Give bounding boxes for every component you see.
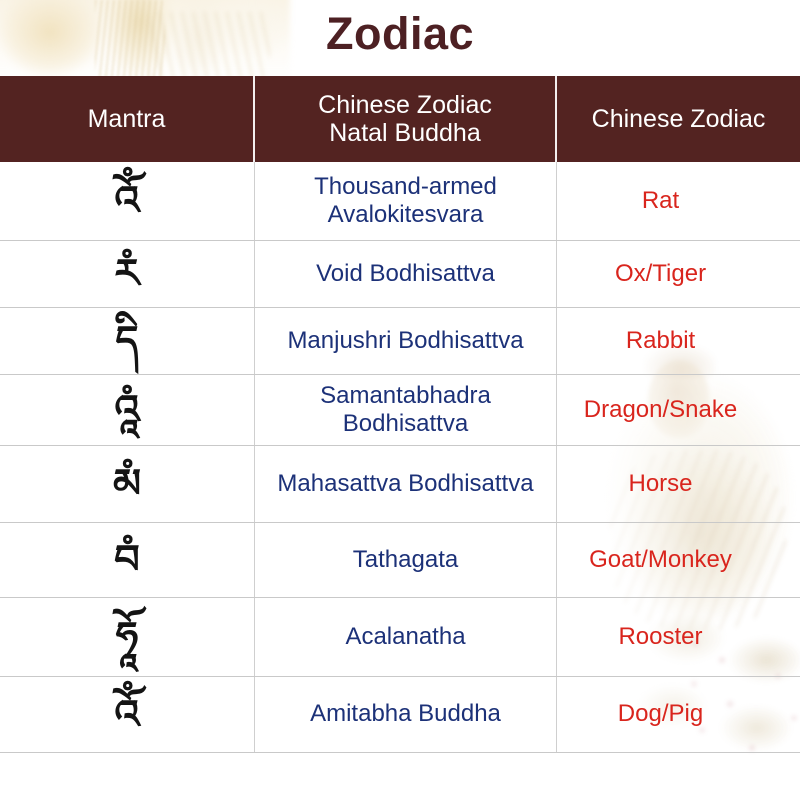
mantra-cell: འོཾ — [0, 162, 255, 240]
chinese-zodiac-cell: Rat — [557, 162, 800, 240]
chinese-zodiac-text: Dog/Pig — [618, 700, 739, 728]
chinese-zodiac-text: Horse — [628, 470, 728, 498]
table-row-5: མཾ Mahasattva Bodhisattva Horse — [0, 446, 800, 523]
table-row-6: བཾ Tathagata Goat/Monkey — [0, 523, 800, 598]
mantra-cell: འོཾ — [0, 677, 255, 752]
chinese-zodiac-text: Rooster — [618, 623, 738, 651]
table-body: འོཾ Thousand-armed Avalokitesvara Rat རཾ… — [0, 162, 800, 753]
column-header-natal-buddha-label: Chinese Zodiac Natal Buddha — [318, 91, 492, 147]
natal-buddha-text: Mahasattva Bodhisattva — [271, 470, 539, 498]
chinese-zodiac-text: Goat/Monkey — [589, 546, 768, 574]
natal-buddha-text: Void Bodhisattva — [310, 260, 501, 288]
table-row-2: རཾ Void Bodhisattva Ox/Tiger — [0, 241, 800, 308]
natal-buddha-line2: Avalokitesvara — [314, 201, 497, 229]
natal-buddha-line1: Acalanatha — [345, 623, 465, 651]
natal-buddha-line1: Mahasattva Bodhisattva — [277, 470, 533, 498]
tibetan-seed-syllable-hrih-icon: འོཾ — [114, 181, 139, 221]
natal-buddha-line1: Tathagata — [353, 546, 458, 574]
table-row-3: དི Manjushri Bodhisattva Rabbit — [0, 308, 800, 375]
chinese-zodiac-text: Ox/Tiger — [615, 260, 742, 288]
chinese-zodiac-cell: Rooster — [557, 598, 800, 676]
natal-buddha-cell: Manjushri Bodhisattva — [255, 308, 557, 374]
chinese-zodiac-text: Rat — [642, 187, 715, 215]
natal-buddha-cell: Void Bodhisattva — [255, 241, 557, 307]
natal-buddha-text: Tathagata — [347, 546, 464, 574]
natal-buddha-cell: Amitabha Buddha — [255, 677, 557, 752]
column-header-mantra: Mantra — [0, 76, 255, 162]
table-row-1: འོཾ Thousand-armed Avalokitesvara Rat — [0, 162, 800, 241]
tibetan-seed-syllable-dhih-icon: དི — [115, 321, 138, 361]
natal-buddha-cell: Samantabhadra Bodhisattva — [255, 375, 557, 445]
natal-buddha-text: Amitabha Buddha — [304, 700, 507, 728]
column-header-natal-buddha: Chinese Zodiac Natal Buddha — [255, 76, 557, 162]
natal-buddha-line1: Thousand-armed — [314, 173, 497, 201]
natal-buddha-text: Thousand-armed Avalokitesvara — [308, 173, 503, 230]
natal-buddha-line2: Bodhisattva — [320, 410, 491, 438]
chinese-zodiac-cell: Dragon/Snake — [557, 375, 800, 445]
mantra-cell: དི — [0, 308, 255, 374]
tibetan-seed-syllable-bam-icon: བཾ — [114, 540, 140, 580]
table-row-8: འོཾ Amitabha Buddha Dog/Pig — [0, 677, 800, 753]
natal-buddha-cell: Mahasattva Bodhisattva — [255, 446, 557, 522]
mantra-cell: ཧཱོ — [0, 598, 255, 676]
page-title: Zodiac — [0, 8, 800, 60]
column-header-natal-buddha-line1: Chinese Zodiac — [318, 91, 492, 119]
tibetan-seed-syllable-hah-icon: ཧཱོ — [116, 617, 138, 657]
mantra-cell: མཾ — [0, 446, 255, 522]
chinese-zodiac-cell: Horse — [557, 446, 800, 522]
natal-buddha-line1: Samantabhadra — [320, 382, 491, 410]
table-header-row: Mantra Chinese Zodiac Natal Buddha Chine… — [0, 76, 800, 162]
column-header-natal-buddha-line2: Natal Buddha — [318, 119, 492, 147]
chinese-zodiac-cell: Rabbit — [557, 308, 800, 374]
chinese-zodiac-text: Rabbit — [626, 327, 731, 355]
natal-buddha-line1: Void Bodhisattva — [316, 260, 495, 288]
mantra-cell: རཾ — [0, 241, 255, 307]
natal-buddha-cell: Thousand-armed Avalokitesvara — [255, 162, 557, 240]
table-row-7: ཧཱོ Acalanatha Rooster — [0, 598, 800, 677]
natal-buddha-cell: Tathagata — [255, 523, 557, 597]
column-header-chinese-zodiac: Chinese Zodiac — [557, 76, 800, 162]
chinese-zodiac-cell: Ox/Tiger — [557, 241, 800, 307]
table-row-4: འཱཾ Samantabhadra Bodhisattva Dragon/Sna… — [0, 375, 800, 446]
column-header-chinese-zodiac-label: Chinese Zodiac — [592, 105, 766, 133]
mantra-cell: བཾ — [0, 523, 255, 597]
natal-buddha-cell: Acalanatha — [255, 598, 557, 676]
zodiac-table: Mantra Chinese Zodiac Natal Buddha Chine… — [0, 76, 800, 753]
natal-buddha-line1: Manjushri Bodhisattva — [287, 327, 523, 355]
chinese-zodiac-cell: Dog/Pig — [557, 677, 800, 752]
natal-buddha-text: Samantabhadra Bodhisattva — [314, 382, 497, 439]
natal-buddha-line1: Amitabha Buddha — [310, 700, 501, 728]
tibetan-seed-syllable-am-icon: འཱཾ — [114, 390, 139, 430]
chinese-zodiac-cell: Goat/Monkey — [557, 523, 800, 597]
chinese-zodiac-text: Dragon/Snake — [584, 396, 773, 424]
column-header-mantra-label: Mantra — [88, 105, 166, 133]
zodiac-infographic: Zodiac Mantra Chinese Zodiac Natal Buddh… — [0, 0, 800, 800]
mantra-cell: འཱཾ — [0, 375, 255, 445]
natal-buddha-text: Acalanatha — [339, 623, 471, 651]
tibetan-seed-syllable-hrih-2-icon: འོཾ — [114, 695, 139, 735]
tibetan-seed-syllable-mam-icon: མཾ — [113, 464, 141, 504]
tibetan-seed-syllable-tram-icon: རཾ — [115, 254, 140, 294]
natal-buddha-text: Manjushri Bodhisattva — [281, 327, 529, 355]
